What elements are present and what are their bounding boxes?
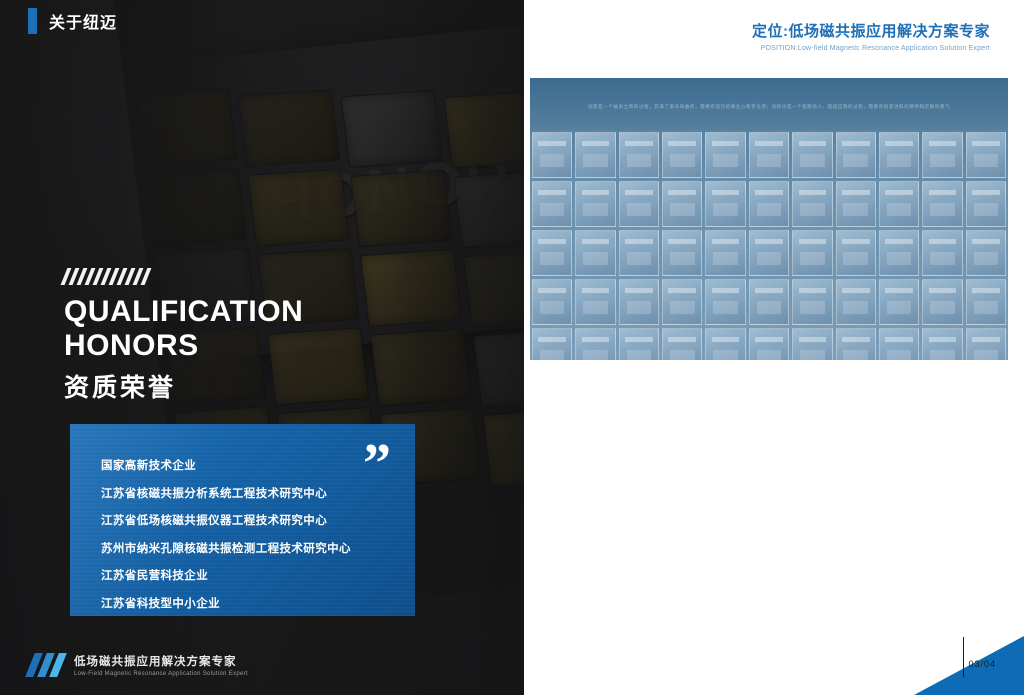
certificate-frame: [836, 132, 876, 178]
certificate-frame: [619, 132, 659, 178]
certificate-frame: [966, 328, 1006, 360]
certificate-frame: [575, 181, 615, 227]
certificate-frame: [966, 132, 1006, 178]
certificate-frame: [792, 279, 832, 325]
certificate-frame: [662, 328, 702, 360]
certificate-frame: [619, 328, 659, 360]
certificate-frame: [575, 132, 615, 178]
right-content-panel: 定位:低场磁共振应用解决方案专家 POSITION:Low-field Magn…: [524, 0, 1024, 695]
certificate-frame: [662, 279, 702, 325]
certificate-frame: [792, 181, 832, 227]
certificate-frame: [749, 132, 789, 178]
page-number: 03/04: [968, 659, 996, 669]
certificate-frame: [705, 279, 745, 325]
footer-chinese: 低场磁共振应用解决方案专家: [74, 653, 248, 669]
certificate-frame: [575, 230, 615, 276]
certificate-frame: [836, 230, 876, 276]
list-item: 江苏省核磁共振分析系统工程技术研究中心: [101, 489, 415, 501]
list-item: 江苏省民营科技企业: [101, 571, 415, 583]
slash-decoration-icon: [64, 268, 303, 285]
list-item: 国家高新技术企业: [101, 461, 415, 473]
slide-page: HONOR 关于纽迈: [0, 0, 1024, 695]
tab-accent-bar: [28, 8, 37, 34]
certificate-frame: [532, 181, 572, 227]
certificate-frame: [922, 328, 962, 360]
certificate-frame: [922, 181, 962, 227]
title-chinese: 资质荣誉: [64, 368, 303, 404]
footer-english: Low-Field Magnetic Resonance Application…: [74, 671, 248, 677]
certificate-frame: [792, 132, 832, 178]
certificate-grid: [530, 130, 1008, 360]
certificate-frame: [792, 230, 832, 276]
certificate-frame: [532, 328, 572, 360]
certificate-frame: [662, 230, 702, 276]
certificate-frame: [705, 181, 745, 227]
tab-label: 关于纽迈: [49, 9, 117, 33]
certificate-frame: [575, 328, 615, 360]
footer-slash-icon: [30, 653, 62, 677]
certificate-frame: [749, 279, 789, 325]
certificate-frame: [879, 279, 919, 325]
certificate-frame: [749, 230, 789, 276]
left-dark-panel: HONOR 关于纽迈: [0, 0, 524, 695]
certificate-frame: [879, 230, 919, 276]
breadcrumb[interactable]: 关于纽迈: [28, 8, 117, 34]
certificate-frame: [619, 279, 659, 325]
certificate-frame: [966, 230, 1006, 276]
certificate-frame: [836, 328, 876, 360]
page-number-divider: [963, 637, 965, 677]
certificate-frame: [879, 181, 919, 227]
certificate-frame: [966, 181, 1006, 227]
certificate-frame: [749, 328, 789, 360]
certificate-frame: [619, 181, 659, 227]
certificate-frame: [836, 181, 876, 227]
qualification-list: 国家高新技术企业 江苏省核磁共振分析系统工程技术研究中心 江苏省低场核磁共振仪器…: [70, 440, 415, 616]
certificate-frame: [836, 279, 876, 325]
certificate-frame: [879, 328, 919, 360]
list-item: 苏州市纳米孔隙核磁共振检测工程技术研究中心: [101, 544, 415, 556]
certificate-frame: [792, 328, 832, 360]
certificate-wall-photo-right: 创新是一个破旧立新的过程，充满了艰辛和曲折，需要有强烈的事业心和责任感；创新也是…: [530, 78, 1008, 360]
certificate-frame: [922, 230, 962, 276]
certificate-frame: [662, 132, 702, 178]
photo-banner-text: 创新是一个破旧立新的过程，充满了艰辛和曲折，需要有强烈的事业心和责任感；创新也是…: [530, 104, 1008, 110]
certificate-frame: [619, 230, 659, 276]
list-item: 江苏省科技型中小企业: [101, 599, 415, 611]
certificate-frame: [705, 328, 745, 360]
title-english-line2: HONORS: [64, 329, 303, 363]
qualification-list-box: ” 国家高新技术企业 江苏省核磁共振分析系统工程技术研究中心 江苏省低场核磁共振…: [70, 424, 415, 616]
certificate-frame: [705, 132, 745, 178]
certificate-frame: [966, 279, 1006, 325]
certificate-frame: [662, 181, 702, 227]
certificate-frame: [922, 279, 962, 325]
certificate-frame: [575, 279, 615, 325]
certificate-frame: [749, 181, 789, 227]
certificate-frame: [705, 230, 745, 276]
position-header-chinese: 定位:低场磁共振应用解决方案专家: [752, 20, 990, 41]
certificate-frame: [922, 132, 962, 178]
page-title: QUALIFICATION HONORS 资质荣誉: [64, 268, 303, 404]
certificate-frame: [532, 132, 572, 178]
title-english-line1: QUALIFICATION: [64, 295, 303, 329]
list-item: 江苏省低场核磁共振仪器工程技术研究中心: [101, 516, 415, 528]
left-footer: 低场磁共振应用解决方案专家 Low-Field Magnetic Resonan…: [30, 653, 248, 677]
certificate-frame: [532, 230, 572, 276]
certificate-frame: [879, 132, 919, 178]
certificate-frame: [532, 279, 572, 325]
position-header: 定位:低场磁共振应用解决方案专家 POSITION:Low-field Magn…: [752, 20, 990, 52]
position-header-english: POSITION:Low-field Magnetic Resonance Ap…: [752, 45, 990, 52]
